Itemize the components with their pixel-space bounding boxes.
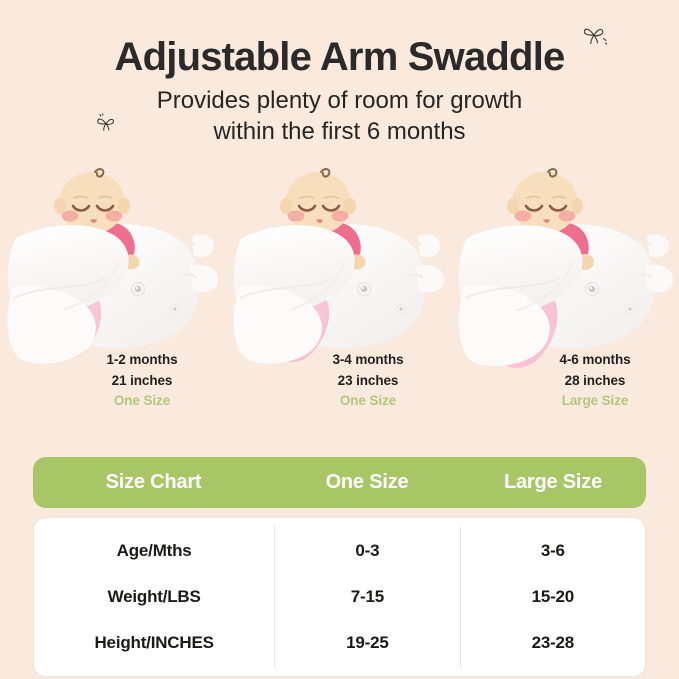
table-row: Age/Mths 0-3 3-6 [34,518,645,576]
swaddle-months-label: 1-2 months [58,350,226,371]
row-large-size-value: 3-6 [460,526,645,576]
table-row: Weight/LBS 7-15 15-20 [34,576,645,618]
subtitle-line-1: Provides plenty of room for growth [0,86,679,117]
size-chart: Size Chart One Size Large Size Age/Mths … [33,457,646,677]
row-label: Weight/LBS [34,576,274,618]
row-label: Age/Mths [34,526,274,576]
swaddle-labels-2: 3-4 months 23 inches One Size [284,350,452,412]
row-one-size-value: 19-25 [274,618,459,668]
baby-swaddle-illustration-icon [453,158,679,373]
header: Adjustable Arm Swaddle Provides plenty o… [0,0,679,155]
row-one-size-value: 7-15 [274,576,459,618]
size-chart-header-cell: One Size [274,471,460,494]
swaddle-card-1: 1-2 months 21 inches One Size [0,158,226,413]
baby-swaddle-illustration-icon [0,158,226,373]
swaddle-inches-label: 21 inches [58,371,226,392]
baby-swaddle-illustration-icon [226,158,452,373]
swaddle-months-label: 4-6 months [511,350,679,371]
page-title: Adjustable Arm Swaddle [0,36,679,79]
size-chart-header-row: Size Chart One Size Large Size [33,457,646,508]
swaddle-card-3: 4-6 months 28 inches Large Size [453,158,679,413]
swaddle-size-label: Large Size [511,391,679,412]
swaddle-labels-3: 4-6 months 28 inches Large Size [511,350,679,412]
swaddle-size-label: One Size [58,391,226,412]
table-row: Height/INCHES 19-25 23-28 [34,618,645,676]
swaddle-inches-label: 23 inches [284,371,452,392]
swaddle-illustration-row: 1-2 months 21 inches One Size [0,158,679,413]
swaddle-months-label: 3-4 months [284,350,452,371]
swaddle-inches-label: 28 inches [511,371,679,392]
subtitle-line-2: within the first 6 months [0,117,679,148]
swaddle-labels-1: 1-2 months 21 inches One Size [58,350,226,412]
size-chart-body: Age/Mths 0-3 3-6 Weight/LBS 7-15 15-20 H… [33,517,646,677]
row-large-size-value: 15-20 [460,576,645,618]
row-large-size-value: 23-28 [460,618,645,668]
page-subtitle: Provides plenty of room for growth withi… [0,86,679,147]
size-chart-header-cell: Large Size [460,471,646,494]
swaddle-size-label: One Size [284,391,452,412]
row-one-size-value: 0-3 [274,526,459,576]
swaddle-card-2: 3-4 months 23 inches One Size [226,158,452,413]
size-chart-header-cell: Size Chart [33,471,274,494]
row-label: Height/INCHES [34,618,274,668]
